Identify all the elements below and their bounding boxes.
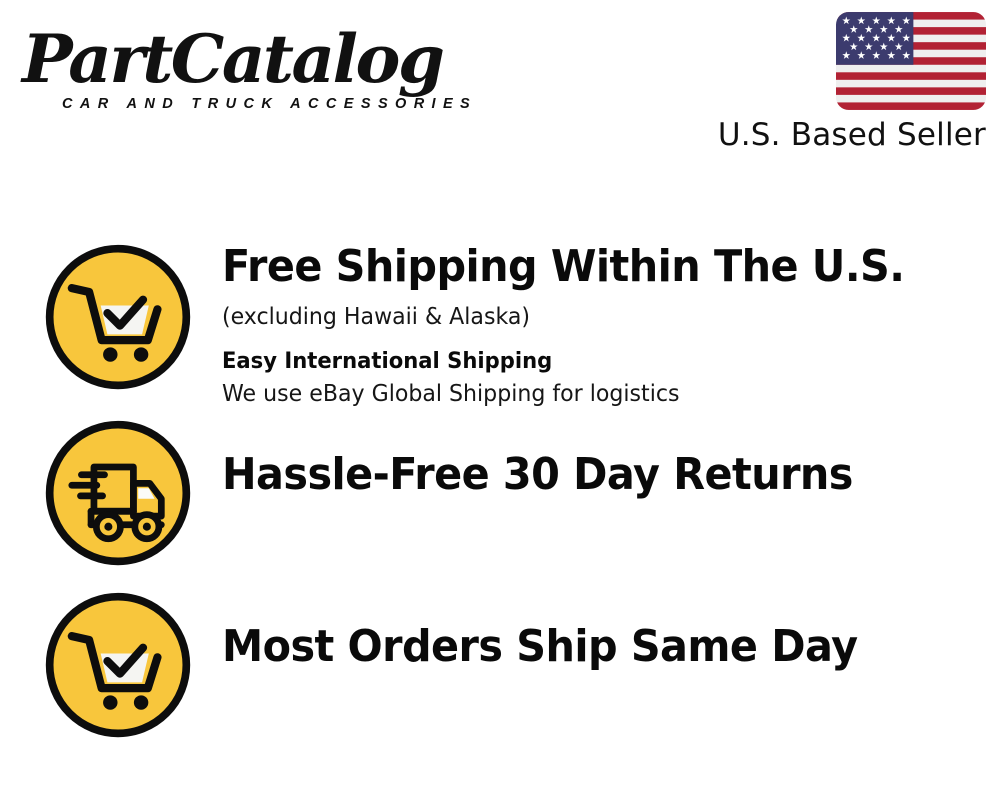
feature-subline-follow: We use eBay Global Shipping for logistic… bbox=[222, 379, 969, 410]
list-item: Most Orders Ship Same Day bbox=[0, 584, 1000, 756]
delivery-truck-icon bbox=[41, 416, 195, 570]
feature-text-block: Free Shipping Within The U.S. (excluding… bbox=[222, 240, 1000, 410]
feature-headline: Hassle-Free 30 Day Returns bbox=[222, 450, 953, 500]
logo-wordmark: PartCatalog bbox=[22, 20, 442, 98]
list-item: Hassle-Free 30 Day Returns bbox=[0, 412, 1000, 584]
list-item: Free Shipping Within The U.S. (excluding… bbox=[0, 240, 1000, 415]
feature-subline: (excluding Hawaii & Alaska) bbox=[222, 301, 969, 333]
cart-check-icon bbox=[41, 588, 195, 742]
us-based-seller-label: U.S. Based Seller bbox=[716, 116, 986, 154]
us-flag-icon bbox=[836, 12, 986, 110]
feature-text-block: Most Orders Ship Same Day bbox=[222, 584, 1000, 672]
partcatalog-logo[interactable]: PartCatalog CAR AND TRUCK ACCESSORIES bbox=[22, 20, 492, 115]
logo-tagline: CAR AND TRUCK ACCESSORIES bbox=[62, 96, 477, 112]
cart-check-icon bbox=[41, 240, 195, 394]
feature-subline-strong: Easy International Shipping bbox=[222, 347, 969, 377]
us-based-seller-badge: U.S. Based Seller bbox=[716, 12, 986, 154]
feature-text-block: Hassle-Free 30 Day Returns bbox=[222, 412, 1000, 500]
page-header: PartCatalog CAR AND TRUCK ACCESSORIES bbox=[0, 0, 1000, 175]
feature-headline: Most Orders Ship Same Day bbox=[222, 622, 953, 672]
feature-headline: Free Shipping Within The U.S. bbox=[222, 242, 953, 292]
